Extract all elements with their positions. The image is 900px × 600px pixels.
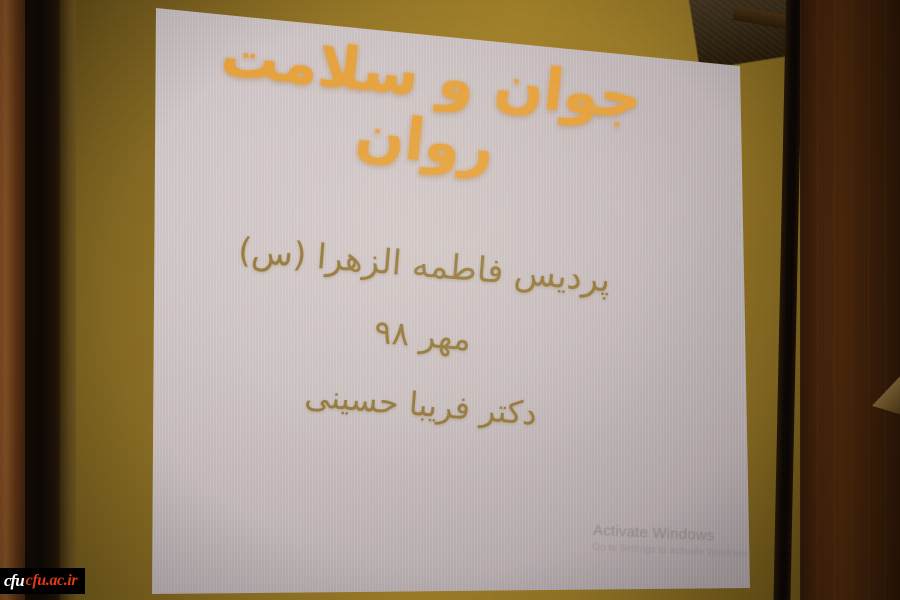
cfu-site-url: cfu.ac.ir bbox=[26, 572, 78, 590]
site-logo-overlay[interactable]: cfu cfu.ac.ir bbox=[0, 568, 85, 594]
slide-subtitle-institution: پردیس فاطمه الزهرا (س) bbox=[144, 223, 705, 308]
slide-subtitle-presenter: دکتر فریبا حسینی bbox=[140, 363, 701, 446]
projection-area: جوان و سلامت روان پردیس فاطمه الزهرا (س)… bbox=[0, 0, 900, 600]
photo-scene: جوان و سلامت روان پردیس فاطمه الزهرا (س)… bbox=[0, 0, 900, 600]
cfu-logo-mark: cfu bbox=[4, 571, 24, 591]
slide-title: جوان و سلامت روان bbox=[143, 17, 713, 202]
slide-content: جوان و سلامت روان پردیس فاطمه الزهرا (س)… bbox=[136, 0, 751, 600]
slide-subtitle-date: مهر ۹۸ bbox=[142, 293, 703, 377]
